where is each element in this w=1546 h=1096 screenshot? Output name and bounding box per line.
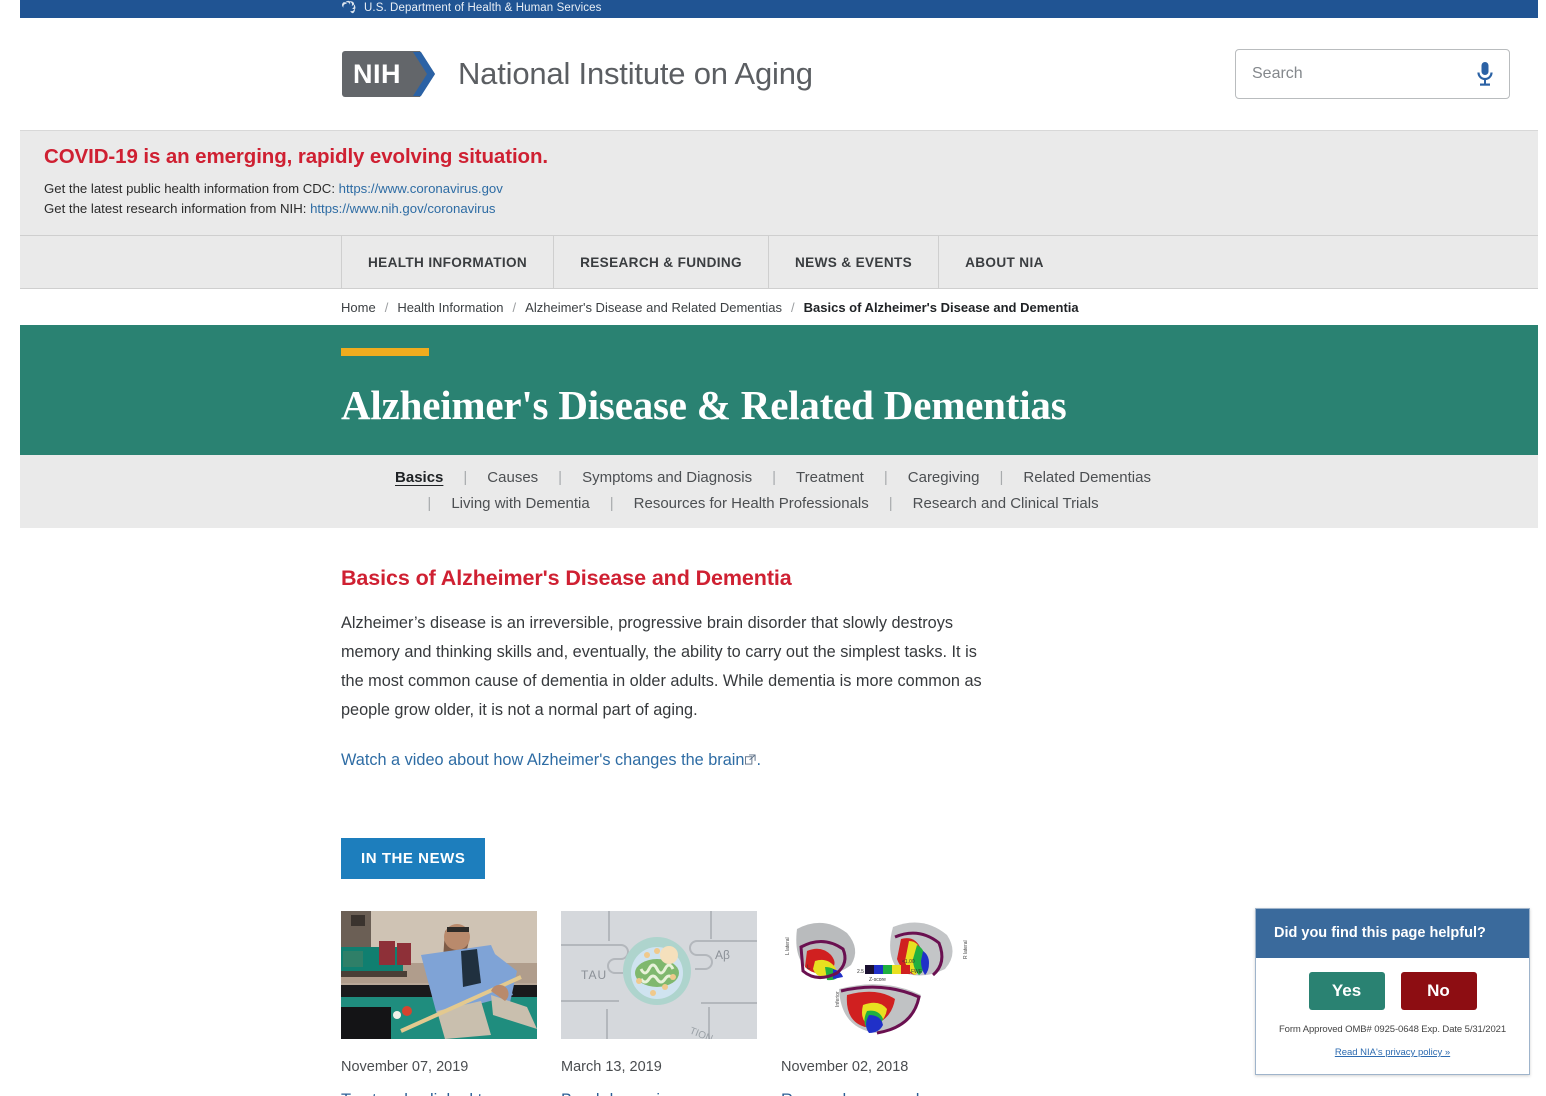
tab-resources-for-health-professionals[interactable]: Resources for Health Professionals — [614, 495, 889, 512]
tab-living-with-dementia[interactable]: Living with Dementia — [431, 495, 609, 512]
section-tabs-row-1: Basics | Causes | Symptoms and Diagnosis… — [0, 469, 1546, 486]
feedback-body: Yes No Form Approved OMB# 0925-0648 Exp.… — [1256, 958, 1529, 1074]
covid-alert-heading: COVID-19 is an emerging, rapidly evolvin… — [44, 145, 1546, 169]
tau-amyloid-puzzle-illustration: TAU Aβ TION — [561, 911, 757, 1039]
news-card[interactable]: TAU Aβ TION March 13, 2019 Breakdowns in — [561, 911, 757, 1096]
hero-accent-rule — [341, 348, 429, 356]
covid-nih-link[interactable]: https://www.nih.gov/coronavirus — [310, 201, 495, 216]
hhs-label: U.S. Department of Health & Human Servic… — [364, 2, 602, 14]
tab-related-dementias[interactable]: Related Dementias — [1003, 469, 1171, 486]
feedback-widget: Did you find this page helpful? Yes No F… — [1255, 908, 1530, 1075]
news-thumbnail-brain-maps[interactable]: 2.5 <1.00 FWE Z-score L lateral R latera… — [781, 911, 977, 1039]
hhs-top-bar: U.S. Department of Health & Human Servic… — [0, 0, 1546, 18]
in-the-news-badge: IN THE NEWS — [341, 838, 485, 879]
svg-text:R lateral: R lateral — [963, 941, 969, 960]
search-input[interactable] — [1252, 65, 1475, 83]
news-card[interactable]: November 07, 2019 Tau tangles linked to — [341, 911, 537, 1096]
breadcrumb-item-home[interactable]: Home — [341, 300, 376, 315]
svg-text:Aβ: Aβ — [715, 948, 730, 962]
microphone-icon[interactable] — [1475, 61, 1495, 87]
right-gutter — [1538, 0, 1546, 1096]
news-date: November 07, 2019 — [341, 1059, 537, 1075]
article-body: Alzheimer’s disease is an irreversible, … — [341, 609, 996, 725]
tab-treatment[interactable]: Treatment — [776, 469, 884, 486]
brain-tau-spread-maps: 2.5 <1.00 FWE Z-score L lateral R latera… — [781, 911, 977, 1039]
breadcrumb-item-alzheimers[interactable]: Alzheimer's Disease and Related Dementia… — [525, 300, 782, 315]
covid-cdc-text: Get the latest public health information… — [44, 181, 339, 196]
covid-alert-banner: COVID-19 is an emerging, rapidly evolvin… — [0, 130, 1546, 236]
page-title: Alzheimer's Disease & Related Dementias — [341, 381, 1546, 429]
nav-item-health-information[interactable]: HEALTH INFORMATION — [341, 236, 553, 288]
tab-causes[interactable]: Causes — [467, 469, 558, 486]
tab-caregiving[interactable]: Caregiving — [888, 469, 1000, 486]
breadcrumb-separator: / — [385, 300, 389, 315]
external-link-icon — [745, 754, 756, 765]
breadcrumb-item-health-information[interactable]: Health Information — [397, 300, 503, 315]
page-hero: Alzheimer's Disease & Related Dementias — [0, 325, 1546, 455]
svg-text:2.5: 2.5 — [857, 969, 864, 975]
svg-text:Z-score: Z-score — [869, 977, 886, 983]
news-title[interactable]: Breakdowns in — [561, 1089, 757, 1096]
feedback-no-button[interactable]: No — [1401, 972, 1477, 1010]
covid-alert-line: Get the latest research information from… — [44, 199, 1546, 219]
section-tabs-row-2: | Living with Dementia | Resources for H… — [0, 495, 1546, 512]
article-heading: Basics of Alzheimer's Disease and Dement… — [341, 566, 1546, 591]
privacy-policy-link[interactable]: Read NIA's privacy policy » — [1335, 1047, 1450, 1058]
nih-chevron-icon — [410, 51, 436, 97]
feedback-omb-text: Form Approved OMB# 0925-0648 Exp. Date 5… — [1256, 1024, 1529, 1035]
news-date: March 13, 2019 — [561, 1059, 757, 1075]
nav-item-about-nia[interactable]: ABOUT NIA — [938, 236, 1070, 288]
site-header: NIH National Institute on Aging — [0, 18, 1546, 130]
nia-logo[interactable]: NIH National Institute on Aging — [342, 51, 813, 97]
covid-alert-line: Get the latest public health information… — [44, 179, 1546, 199]
video-link-label: Watch a video about how Alzheimer's chan… — [341, 751, 744, 769]
breadcrumb-separator: / — [513, 300, 517, 315]
feedback-yes-button[interactable]: Yes — [1309, 972, 1385, 1010]
svg-text:TAU: TAU — [581, 968, 607, 982]
news-title[interactable]: Tau tangles linked to — [341, 1089, 537, 1096]
covid-nih-text: Get the latest research information from… — [44, 201, 310, 216]
nia-webpage: U.S. Department of Health & Human Servic… — [0, 0, 1546, 1096]
news-date: November 02, 2018 — [781, 1059, 977, 1075]
nih-logo-text: NIH — [342, 51, 410, 97]
video-link[interactable]: Watch a video about how Alzheimer's chan… — [341, 751, 1546, 770]
tab-basics[interactable]: Basics — [375, 469, 463, 486]
news-card[interactable]: 2.5 <1.00 FWE Z-score L lateral R latera… — [781, 911, 977, 1096]
main-navigation: HEALTH INFORMATION RESEARCH & FUNDING NE… — [0, 236, 1546, 289]
video-link-period: . — [756, 751, 761, 769]
feedback-question: Did you find this page helpful? — [1256, 909, 1529, 958]
feedback-buttons: Yes No — [1256, 972, 1529, 1010]
site-title: National Institute on Aging — [458, 56, 813, 92]
covid-cdc-link[interactable]: https://www.coronavirus.gov — [339, 181, 503, 196]
svg-text:<1.00: <1.00 — [902, 959, 915, 965]
nav-item-news-events[interactable]: NEWS & EVENTS — [768, 236, 938, 288]
breadcrumb-item-current: Basics of Alzheimer's Disease and Dement… — [804, 300, 1079, 315]
nih-mark: NIH — [342, 51, 436, 97]
search-area — [1235, 49, 1510, 99]
news-thumbnail-puzzle[interactable]: TAU Aβ TION — [561, 911, 757, 1039]
hhs-seal-icon — [340, 0, 358, 16]
nav-spacer — [1070, 236, 1546, 288]
feedback-privacy: Read NIA's privacy policy » — [1256, 1047, 1529, 1058]
breadcrumb-separator: / — [791, 300, 795, 315]
left-gutter — [0, 0, 20, 1096]
news-title[interactable]: Researchers map how — [781, 1089, 977, 1096]
man-playing-pool-photo — [341, 911, 537, 1039]
svg-text:FWE: FWE — [911, 969, 923, 975]
tab-research-and-clinical-trials[interactable]: Research and Clinical Trials — [893, 495, 1119, 512]
news-thumbnail-pool[interactable] — [341, 911, 537, 1039]
svg-text:L lateral: L lateral — [785, 938, 791, 956]
section-tabs: Basics | Causes | Symptoms and Diagnosis… — [0, 455, 1546, 528]
search-box[interactable] — [1235, 49, 1510, 99]
tab-symptoms-and-diagnosis[interactable]: Symptoms and Diagnosis — [562, 469, 772, 486]
nav-item-research-funding[interactable]: RESEARCH & FUNDING — [553, 236, 768, 288]
breadcrumb: Home / Health Information / Alzheimer's … — [0, 289, 1546, 325]
svg-text:Inferior: Inferior — [835, 991, 841, 1007]
